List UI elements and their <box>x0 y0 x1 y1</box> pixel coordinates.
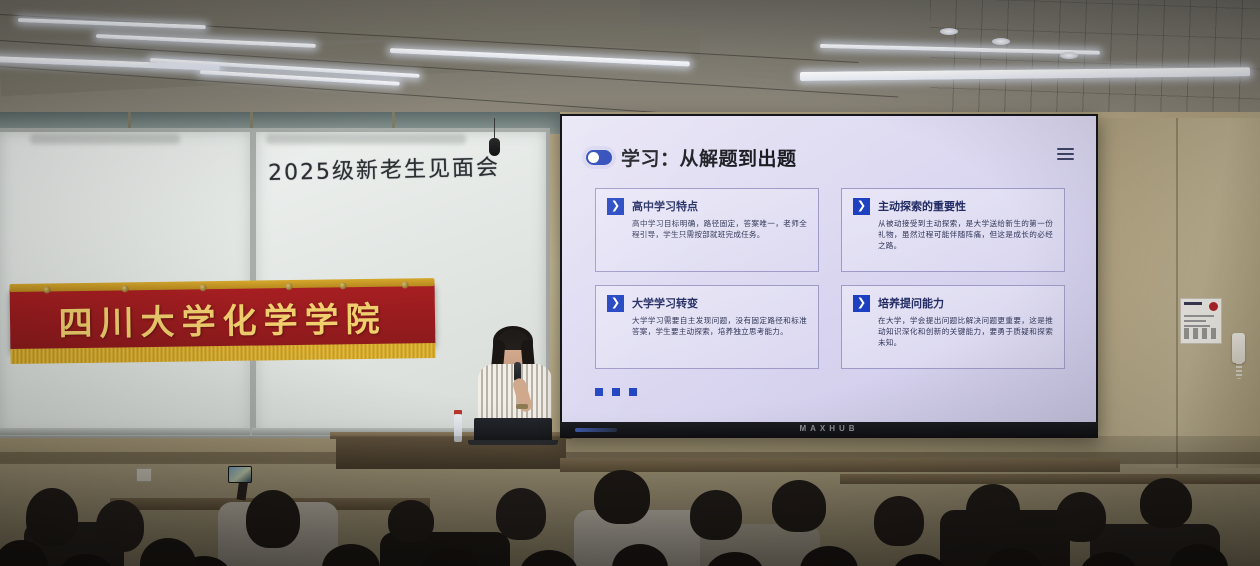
audience-head <box>520 550 578 566</box>
card-body: 高中学习目标明确，路径固定，答案唯一，老师全程引导，学生只需按部就班完成任务。 <box>632 218 807 240</box>
wall-notice-sign <box>1180 298 1222 344</box>
slide-card: ❯ 大学学习转变 大学学习需要自主发现问题，没有固定路径和标准答案，学生要主动探… <box>595 285 819 369</box>
wall-telephone[interactable] <box>1232 333 1245 363</box>
audience-area <box>0 440 1260 566</box>
page-dot[interactable] <box>612 388 620 396</box>
audience-head <box>496 488 546 540</box>
audience-head <box>388 500 434 542</box>
mic-cable <box>494 118 495 140</box>
audience-head <box>1140 478 1192 528</box>
slide-card-grid: ❯ 高中学习特点 高中学习目标明确，路径固定，答案唯一，老师全程引导，学生只需按… <box>595 188 1065 369</box>
lecture-hall-photo: 2025级新老生见面会 四川大学化学学院 学习：从解题到出题 <box>0 0 1260 566</box>
audience-head <box>690 490 742 540</box>
card-title: 培养提问能力 <box>878 295 944 312</box>
whiteboard-handwriting: 2025级新老生见面会 <box>268 149 519 191</box>
chevron-right-icon: ❯ <box>607 198 624 215</box>
right-wall <box>1096 118 1260 468</box>
page-dot[interactable] <box>629 388 637 396</box>
banner-text: 四川大学化学学院 <box>10 291 436 346</box>
ceiling-spotlight <box>940 28 958 35</box>
audience-phone-screen <box>228 466 252 483</box>
presenter-watch <box>516 404 528 409</box>
chevron-right-icon: ❯ <box>853 295 870 312</box>
audience-head <box>26 488 78 546</box>
chevron-right-icon: ❯ <box>853 198 870 215</box>
laptop-screen <box>474 418 552 442</box>
page-dot[interactable] <box>595 388 603 396</box>
card-body: 大学学习需要自主发现问题，没有固定路径和标准答案，学生要主动探索，培养独立思考能… <box>632 315 807 337</box>
audience-head <box>594 470 650 524</box>
audience-head <box>96 500 144 552</box>
presentation-slide: 学习：从解题到出题 ❯ 高中学习特点 高中学习目标明确，路径固定，答案唯一，老师… <box>562 116 1096 422</box>
slide-page-indicator <box>595 388 637 396</box>
slide-title-row: 学习：从解题到出题 <box>586 144 797 171</box>
toggle-switch-icon <box>586 150 612 165</box>
card-title: 高中学习特点 <box>632 198 698 215</box>
card-title: 大学学习转变 <box>632 295 698 312</box>
audience-head <box>246 490 300 548</box>
chevron-right-icon: ❯ <box>607 295 624 312</box>
slide-card: ❯ 高中学习特点 高中学习目标明确，路径固定，答案唯一，老师全程引导，学生只需按… <box>595 188 819 272</box>
notice-pictogram-icon <box>1184 328 1216 339</box>
audience-head <box>1056 492 1106 542</box>
ceiling-spotlight <box>992 38 1010 45</box>
audience-head <box>966 484 1020 536</box>
slide-card: ❯ 主动探索的重要性 从被动接受到主动探索，是大学送给新生的第一份礼物，虽然过程… <box>841 188 1065 272</box>
card-title: 主动探索的重要性 <box>878 198 966 215</box>
ceiling-spotlight <box>1060 52 1078 59</box>
audience-head <box>140 538 196 566</box>
slide-title: 学习：从解题到出题 <box>621 144 797 171</box>
hanging-microphone <box>489 138 500 156</box>
audience-head <box>874 496 924 546</box>
hamburger-menu-icon[interactable] <box>1057 148 1074 160</box>
water-bottle <box>454 414 462 442</box>
card-body: 从被动接受到主动探索，是大学送给新生的第一份礼物，虽然过程可能伴随阵痛，但这是成… <box>878 218 1053 251</box>
audience-head <box>772 480 826 532</box>
telephone-cord <box>1236 362 1242 379</box>
no-smoking-icon <box>1209 302 1218 311</box>
ceiling-grid <box>930 0 1260 118</box>
red-banner: 四川大学化学学院 <box>10 283 436 351</box>
ceiling <box>0 0 1260 118</box>
card-body: 在大学，学会提出问题比解决问题更重要，这是推动知识深化和创新的关键能力，要勇于质… <box>878 315 1053 348</box>
display-brand-label: MAXHUB <box>560 424 1098 433</box>
slide-card: ❯ 培养提问能力 在大学，学会提出问题比解决问题更重要，这是推动知识深化和创新的… <box>841 285 1065 369</box>
